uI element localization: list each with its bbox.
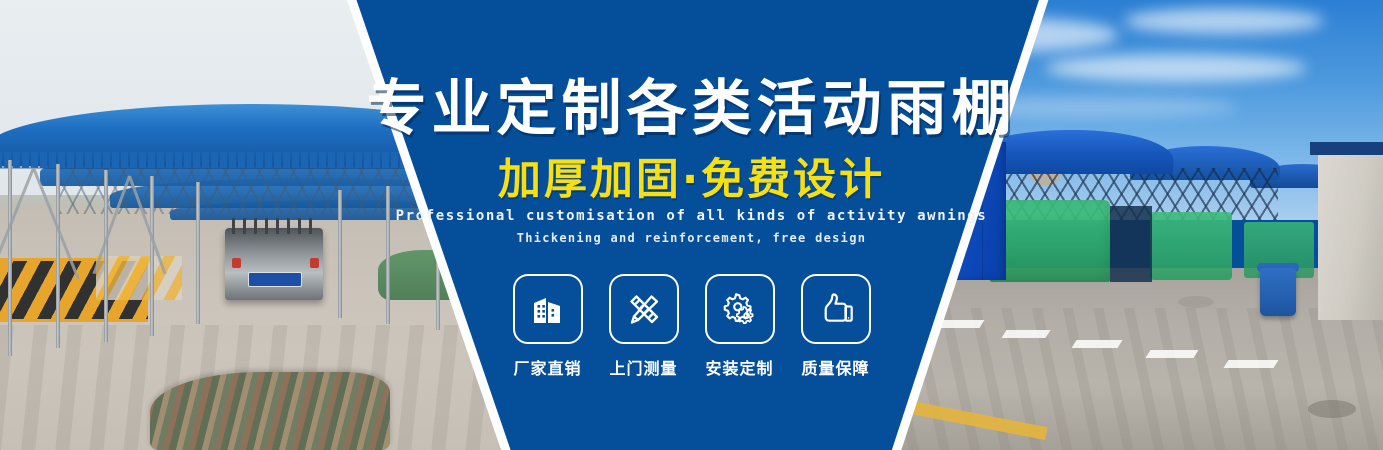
feature-icon-box	[705, 274, 775, 344]
gears-icon	[720, 289, 760, 329]
feature-item-quality-guarantee[interactable]: 质量保障	[801, 274, 871, 379]
feature-icon-box	[513, 274, 583, 344]
feature-icon-box	[801, 274, 871, 344]
banner-content: 专业定制各类活动雨棚 加厚加固·免费设计 Professional custom…	[0, 0, 1383, 450]
feature-label: 厂家直销	[513, 355, 581, 379]
feature-item-on-site-measure[interactable]: 上门测量	[609, 274, 679, 379]
thumbs-up-icon	[816, 289, 856, 329]
feature-icon-box	[609, 274, 679, 344]
feature-label: 安装定制	[705, 355, 773, 379]
banner-english-line-2: Thickening and reinforcement, free desig…	[0, 231, 1383, 245]
feature-label: 上门测量	[609, 355, 677, 379]
building-icon	[528, 289, 568, 329]
ruler-pencil-icon	[624, 289, 664, 329]
banner-subtitle: 加厚加固·免费设计	[0, 145, 1383, 207]
feature-item-install-custom[interactable]: 安装定制	[705, 274, 775, 379]
banner-english-line-1: Professional customisation of all kinds …	[0, 208, 1383, 224]
banner-title: 专业定制各类活动雨棚	[0, 60, 1383, 147]
feature-list: 厂家直销	[0, 274, 1383, 379]
feature-item-factory-direct[interactable]: 厂家直销	[513, 274, 583, 379]
promo-banner: 专业定制各类活动雨棚 加厚加固·免费设计 Professional custom…	[0, 0, 1383, 450]
feature-label: 质量保障	[801, 355, 869, 379]
